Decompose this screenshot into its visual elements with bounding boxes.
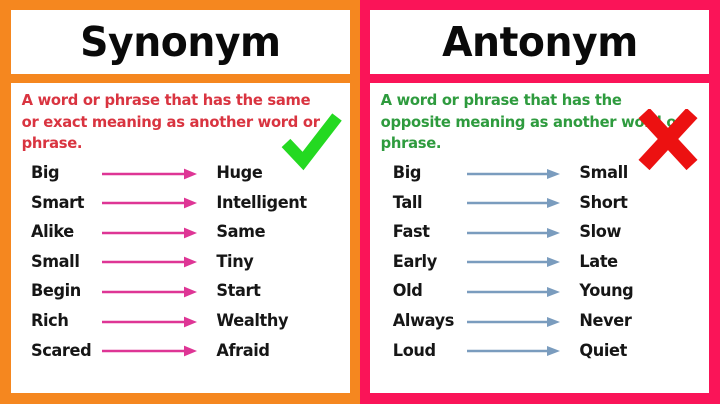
pair-source-word: Scared xyxy=(11,343,91,360)
pair-target-word: Start xyxy=(205,283,260,300)
pair-source-word: Rich xyxy=(11,313,91,330)
pair-target-word: Never xyxy=(568,313,631,330)
pair-target-word: Late xyxy=(568,254,618,271)
pair-row: Small Tiny xyxy=(11,248,350,278)
synonym-description: A word or phrase that has the same or ex… xyxy=(11,90,340,155)
synonym-title: Synonym xyxy=(80,22,280,63)
pair-row: Rich Wealthy xyxy=(11,307,350,337)
pair-row: Early Late xyxy=(370,248,709,278)
synonym-antonym-infographic: Synonym A word or phrase that has the sa… xyxy=(0,0,720,404)
pair-target-word: Small xyxy=(568,165,628,182)
pair-source-word: Loud xyxy=(370,343,456,360)
pair-target-word: Slow xyxy=(568,224,621,241)
pair-row: Always Never xyxy=(370,307,709,337)
pair-target-word: Quiet xyxy=(568,343,627,360)
synonym-body: A word or phrase that has the same or ex… xyxy=(11,83,350,393)
pair-target-word: Wealthy xyxy=(205,313,288,330)
pair-source-word: Big xyxy=(370,165,456,182)
pair-row: Big Small xyxy=(370,159,709,189)
pair-row: Begin Start xyxy=(11,277,350,307)
pair-row: Big Huge xyxy=(11,159,350,189)
antonym-title: Antonym xyxy=(442,22,638,63)
pair-source-word: Alike xyxy=(11,224,91,241)
synonym-arrow-icon xyxy=(95,164,205,184)
pair-source-word: Big xyxy=(11,165,91,182)
antonym-arrow-icon xyxy=(460,193,568,213)
antonym-arrow-icon xyxy=(460,282,568,302)
pair-source-word: Old xyxy=(370,283,456,300)
pair-row: Tall Short xyxy=(370,188,709,218)
synonym-arrow-icon xyxy=(95,341,205,361)
pair-target-word: Tiny xyxy=(205,254,253,271)
pair-source-word: Early xyxy=(370,254,456,271)
pair-row: Smart Intelligent xyxy=(11,188,350,218)
antonym-title-box: Antonym xyxy=(370,10,709,74)
pair-source-word: Fast xyxy=(370,224,456,241)
antonym-body: A word or phrase that has the opposite m… xyxy=(370,83,709,393)
pair-row: Fast Slow xyxy=(370,218,709,248)
synonym-arrow-icon xyxy=(95,282,205,302)
pair-source-word: Smart xyxy=(11,195,91,212)
antonym-description: A word or phrase that has the opposite m… xyxy=(370,90,699,155)
antonym-pair-list: Big Small Tall xyxy=(370,159,709,366)
antonym-arrow-icon xyxy=(460,312,568,332)
pair-target-word: Short xyxy=(568,195,627,212)
pair-source-word: Tall xyxy=(370,195,456,212)
synonym-title-box: Synonym xyxy=(11,10,350,74)
pair-row: Old Young xyxy=(370,277,709,307)
pair-target-word: Young xyxy=(568,283,633,300)
antonym-arrow-icon xyxy=(460,164,568,184)
pair-target-word: Afraid xyxy=(205,343,270,360)
pair-target-word: Huge xyxy=(205,165,262,182)
synonym-arrow-icon xyxy=(95,312,205,332)
pair-source-word: Begin xyxy=(11,283,91,300)
synonym-pair-list: Big Huge Smart xyxy=(11,159,350,366)
pair-row: Loud Quiet xyxy=(370,336,709,366)
synonym-arrow-icon xyxy=(95,223,205,243)
pair-target-word: Same xyxy=(205,224,265,241)
antonym-arrow-icon xyxy=(460,341,568,361)
antonym-panel: Antonym A word or phrase that has the op… xyxy=(360,0,720,404)
pair-row: Alike Same xyxy=(11,218,350,248)
antonym-arrow-icon xyxy=(460,223,568,243)
pair-source-word: Always xyxy=(370,313,456,330)
antonym-arrow-icon xyxy=(460,252,568,272)
pair-row: Scared Afraid xyxy=(11,336,350,366)
synonym-arrow-icon xyxy=(95,252,205,272)
pair-target-word: Intelligent xyxy=(205,195,307,212)
synonym-arrow-icon xyxy=(95,193,205,213)
synonym-panel: Synonym A word or phrase that has the sa… xyxy=(0,0,360,404)
pair-source-word: Small xyxy=(11,254,91,271)
